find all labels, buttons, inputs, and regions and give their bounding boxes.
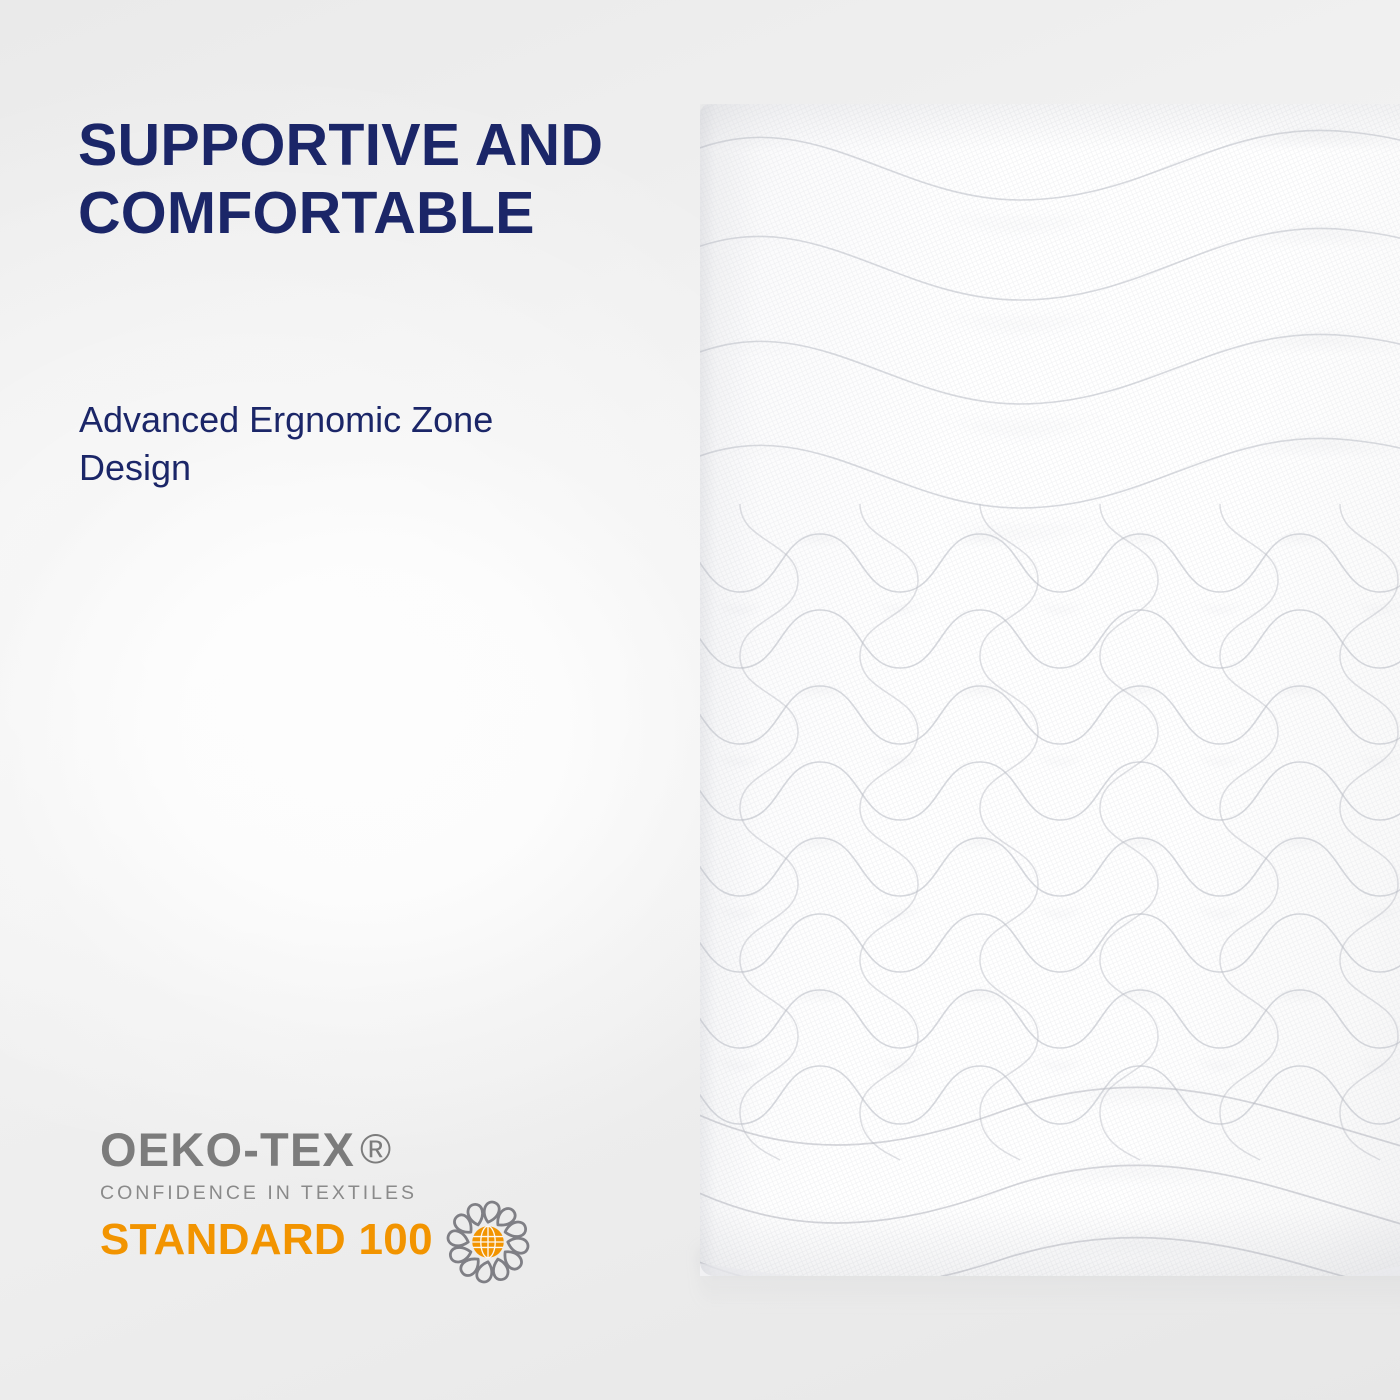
page-subtitle: Advanced Ergnomic Zone Design <box>79 396 549 491</box>
oeko-tex-wordmark: OEKO-TEX ® <box>100 1126 438 1173</box>
oeko-tex-title: OEKO-TEX <box>100 1126 355 1173</box>
quilted-mattress-pad-image <box>700 104 1400 1276</box>
certification-text-block: OEKO-TEX ® CONFIDENCE IN TEXTILES STANDA… <box>100 1126 438 1262</box>
certification-badge: OEKO-TEX ® CONFIDENCE IN TEXTILES STANDA… <box>100 1126 550 1276</box>
registered-trademark-icon: ® <box>360 1128 392 1170</box>
oeko-tex-globe-emblem <box>434 1188 542 1296</box>
emblem-globe-icon <box>472 1226 504 1258</box>
quilting-stitch-pattern <box>700 104 1400 1276</box>
marketing-banner: SUPPORTIVE AND COMFORTABLE Advanced Ergn… <box>0 0 1400 1400</box>
page-title: SUPPORTIVE AND COMFORTABLE <box>78 112 638 247</box>
oeko-tex-standard-label: STANDARD 100 <box>100 1218 438 1262</box>
oeko-tex-tagline: CONFIDENCE IN TEXTILES <box>100 1184 438 1204</box>
